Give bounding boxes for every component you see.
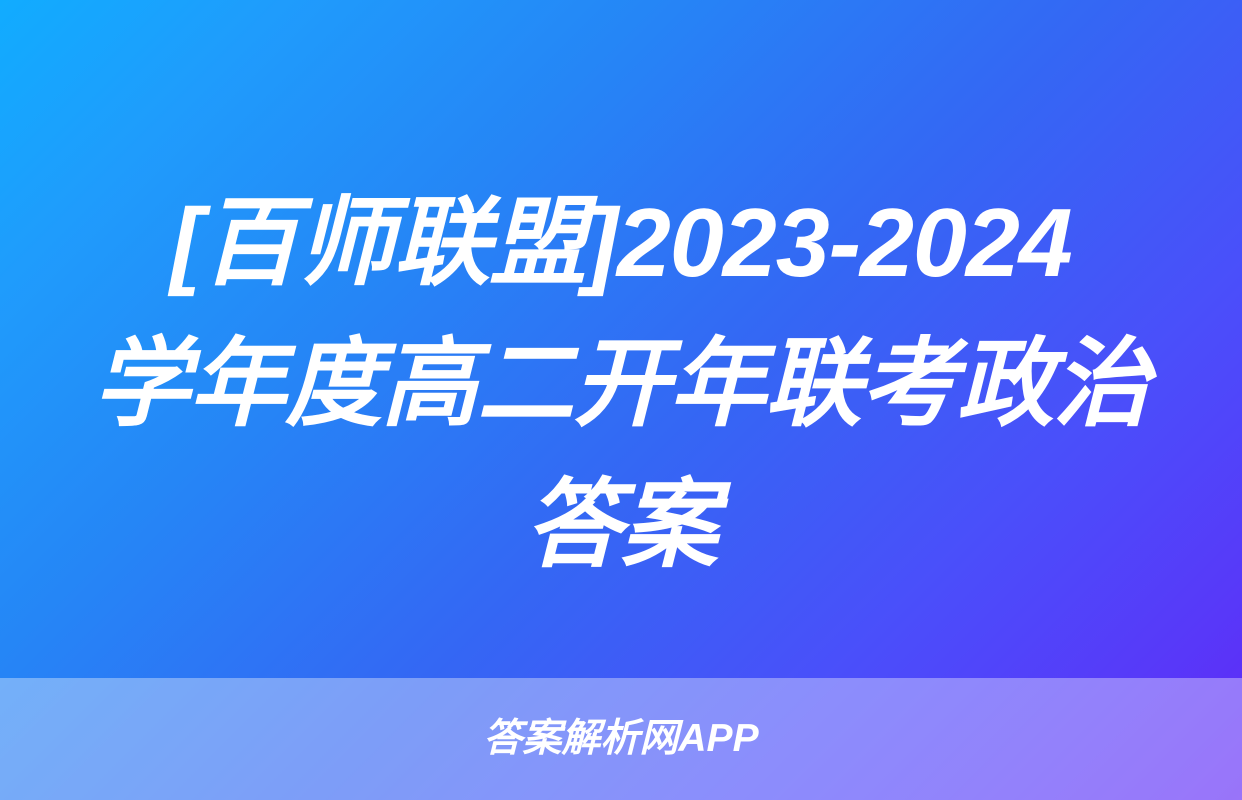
exam-answer-cover-card: [百师联盟]2023-2024 学年度高二开年联考政治 答案 答案解析网APP [0,0,1242,800]
cover-title-line-2: 学年度高二开年联考政治 [40,313,1202,454]
footer-watermark-label: 答案解析网APP [483,717,758,761]
cover-title: [百师联盟]2023-2024 学年度高二开年联考政治 答案 [0,172,1242,595]
cover-title-line-1: [百师联盟]2023-2024 [40,172,1202,313]
cover-title-line-3: 答案 [40,454,1202,595]
footer-watermark-band: 答案解析网APP [0,678,1242,800]
